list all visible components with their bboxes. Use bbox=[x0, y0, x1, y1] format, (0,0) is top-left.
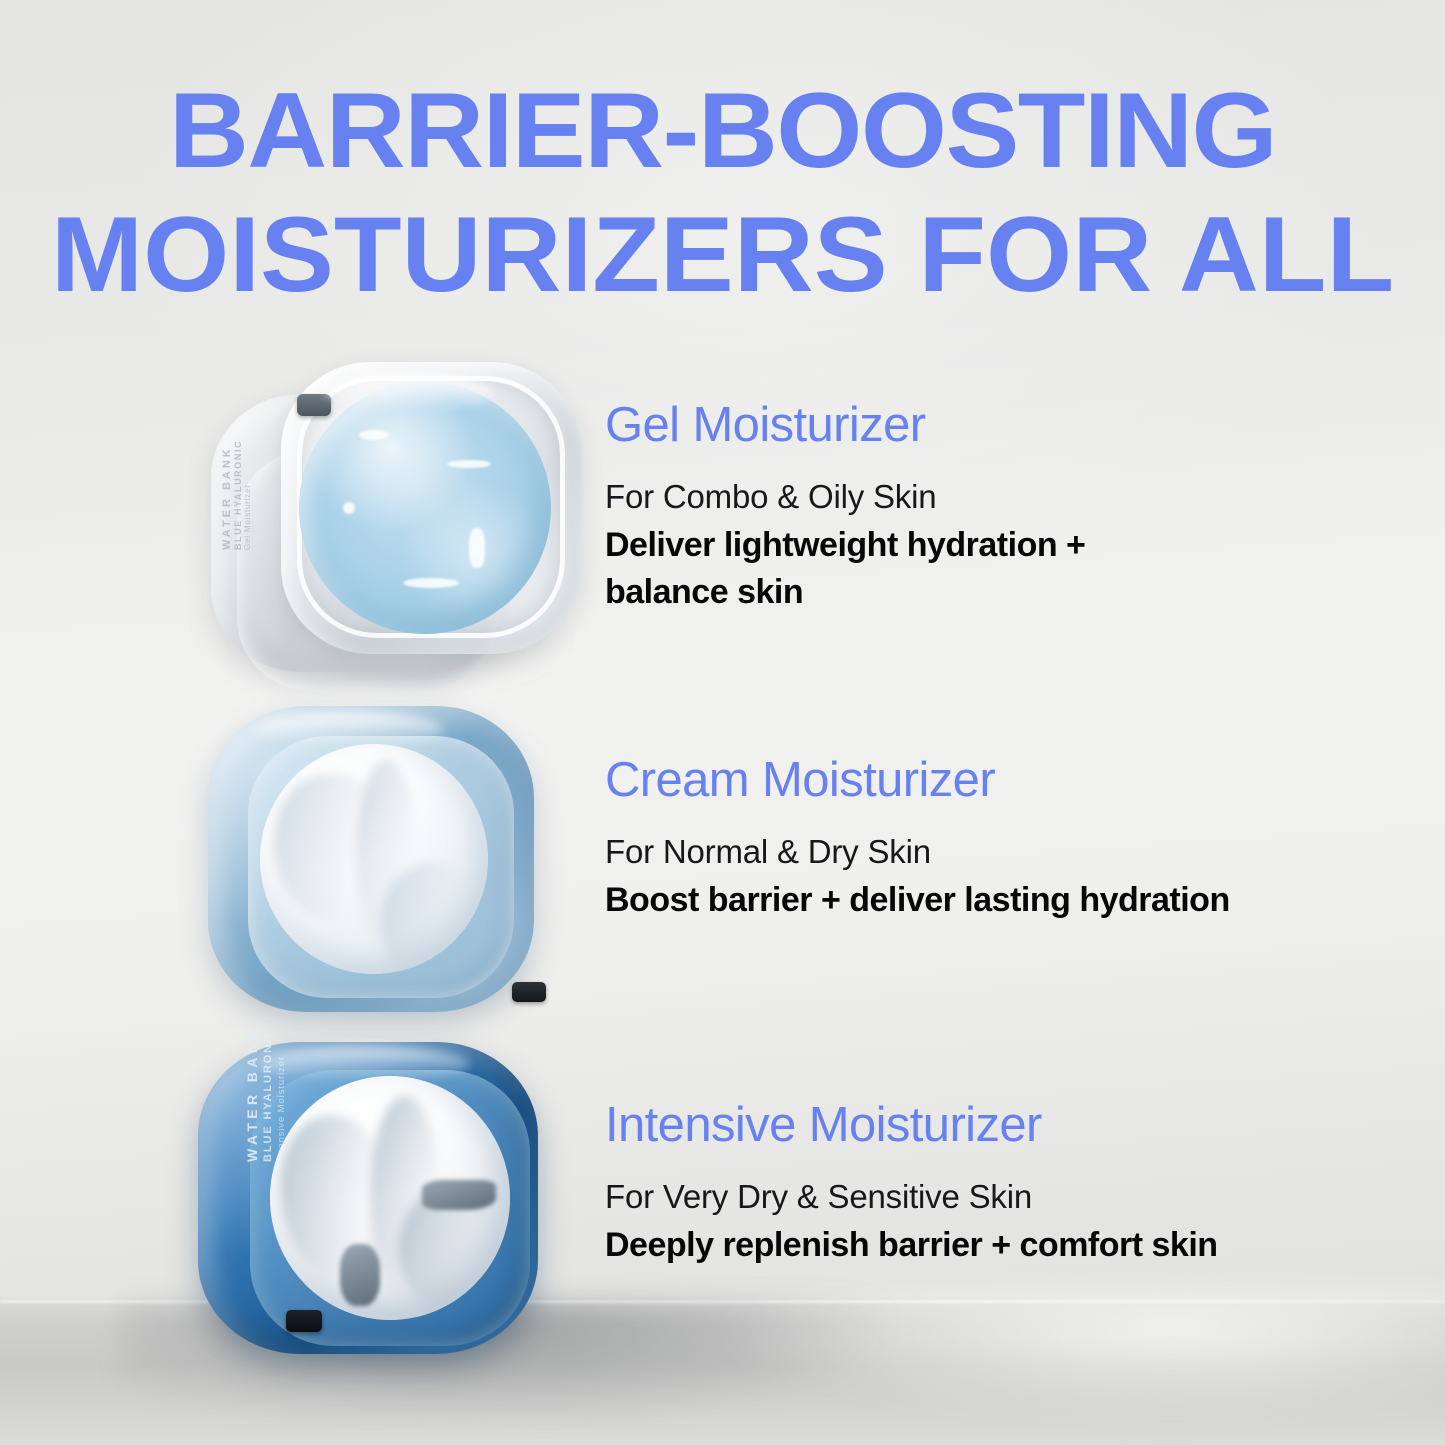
cream-swirl bbox=[380, 864, 470, 974]
product-benefit-cream: Boost barrier + deliver lasting hydratio… bbox=[605, 877, 1325, 924]
intensive-jar-highlight bbox=[260, 1046, 470, 1082]
headline-line-1: BARRIER-BOOSTING bbox=[0, 68, 1445, 192]
product-skintype-gel: For Combo & Oily Skin bbox=[605, 476, 1325, 518]
product-title-cream: Cream Moisturizer bbox=[605, 751, 1325, 809]
gel-jar-label-brand: WATER BANK bbox=[221, 446, 233, 550]
cream-product-content bbox=[260, 744, 488, 974]
headline-line-2: MOISTURIZERS FOR ALL bbox=[0, 192, 1445, 316]
page-headline: BARRIER-BOOSTING MOISTURIZERS FOR ALL bbox=[0, 68, 1445, 316]
cream-jar-highlight bbox=[254, 712, 444, 746]
product-title-intensive: Intensive Moisturizer bbox=[605, 1096, 1325, 1154]
cream-jar-hinge-clip bbox=[512, 982, 546, 1002]
product-text-cream: Cream Moisturizer For Normal & Dry Skin … bbox=[605, 751, 1325, 924]
product-skintype-intensive: For Very Dry & Sensitive Skin bbox=[605, 1176, 1325, 1218]
product-benefit-gel: Deliver lightweight hydration + balance … bbox=[605, 522, 1165, 616]
cream-jar bbox=[198, 698, 578, 1038]
gel-sparkle bbox=[403, 578, 459, 588]
cream-peak-shadow bbox=[422, 1180, 496, 1210]
gel-product-content bbox=[299, 382, 551, 634]
gel-sparkle bbox=[343, 502, 355, 514]
gel-jar: WATER BANK BLUE HYALURONIC Gel Moisturiz… bbox=[205, 358, 585, 698]
product-benefit-intensive: Deeply replenish barrier + comfort skin bbox=[605, 1222, 1325, 1269]
intensive-jar-label-brand: WATER BANK bbox=[244, 1024, 260, 1162]
gel-jar-highlight bbox=[325, 374, 495, 412]
intensive-jar-label-line: BLUE HYALURONIC bbox=[262, 1024, 274, 1162]
product-title-gel: Gel Moisturizer bbox=[605, 396, 1325, 454]
cream-peak-shadow bbox=[340, 1244, 380, 1306]
gel-sparkle bbox=[469, 528, 485, 568]
intensive-product-content bbox=[270, 1076, 510, 1320]
gel-jar-side-label: WATER BANK BLUE HYALURONIC Gel Moisturiz… bbox=[221, 400, 251, 550]
product-skintype-cream: For Normal & Dry Skin bbox=[605, 831, 1325, 873]
product-infographic-poster: BARRIER-BOOSTING MOISTURIZERS FOR ALL WA… bbox=[0, 0, 1445, 1445]
product-text-intensive: Intensive Moisturizer For Very Dry & Sen… bbox=[605, 1096, 1325, 1269]
gel-sparkle bbox=[359, 430, 389, 440]
gel-jar-label-line: BLUE HYALURONIC bbox=[233, 400, 243, 550]
intensive-jar-hinge-clip bbox=[286, 1310, 322, 1332]
intensive-jar-side-label: WATER BANK BLUE HYALURONIC Intensive Moi… bbox=[244, 1024, 287, 1162]
gel-jar-hinge-clip bbox=[297, 394, 331, 416]
surface-highlight-glow bbox=[705, 1292, 1445, 1422]
intensive-jar: WATER BANK BLUE HYALURONIC Intensive Moi… bbox=[190, 1032, 570, 1372]
product-text-gel: Gel Moisturizer For Combo & Oily Skin De… bbox=[605, 396, 1325, 616]
gel-jar-label-type: Gel Moisturizer bbox=[243, 400, 252, 550]
gel-sparkle bbox=[447, 460, 491, 468]
